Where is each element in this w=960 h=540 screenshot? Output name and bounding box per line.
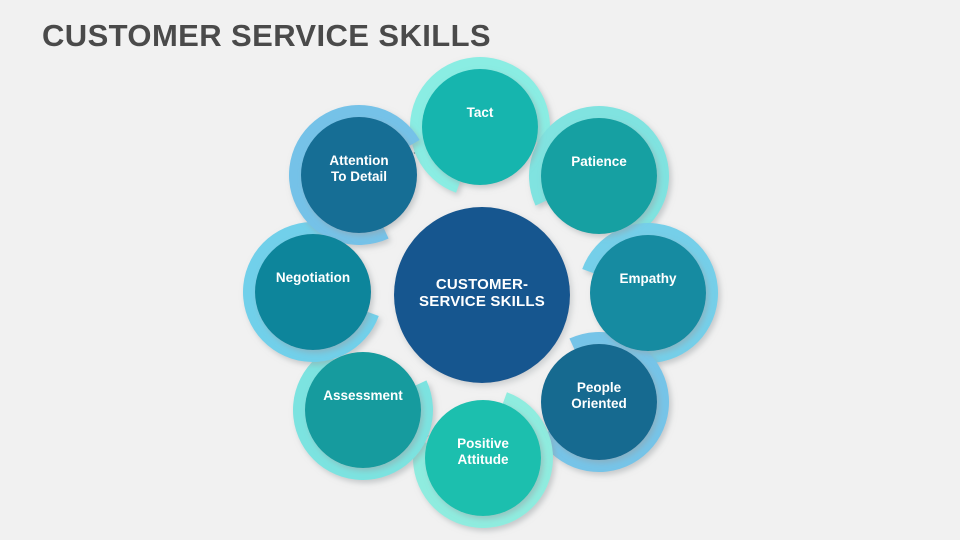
node-circle-people-oriented[interactable]	[541, 344, 657, 460]
center-circle[interactable]	[394, 207, 570, 383]
node-circle-negotiation[interactable]	[255, 234, 371, 350]
node-circle-empathy[interactable]	[590, 235, 706, 351]
node-circle-tact[interactable]	[422, 69, 538, 185]
node-circle-assessment[interactable]	[305, 352, 421, 468]
node-circle-patience[interactable]	[541, 118, 657, 234]
slide-canvas: CUSTOMER SERVICE SKILLS TactPatienceEmpa…	[0, 0, 960, 540]
radial-cycle-diagram	[0, 0, 960, 540]
node-circle-attention-to-detail[interactable]	[301, 117, 417, 233]
node-circle-positive-attitude[interactable]	[425, 400, 541, 516]
